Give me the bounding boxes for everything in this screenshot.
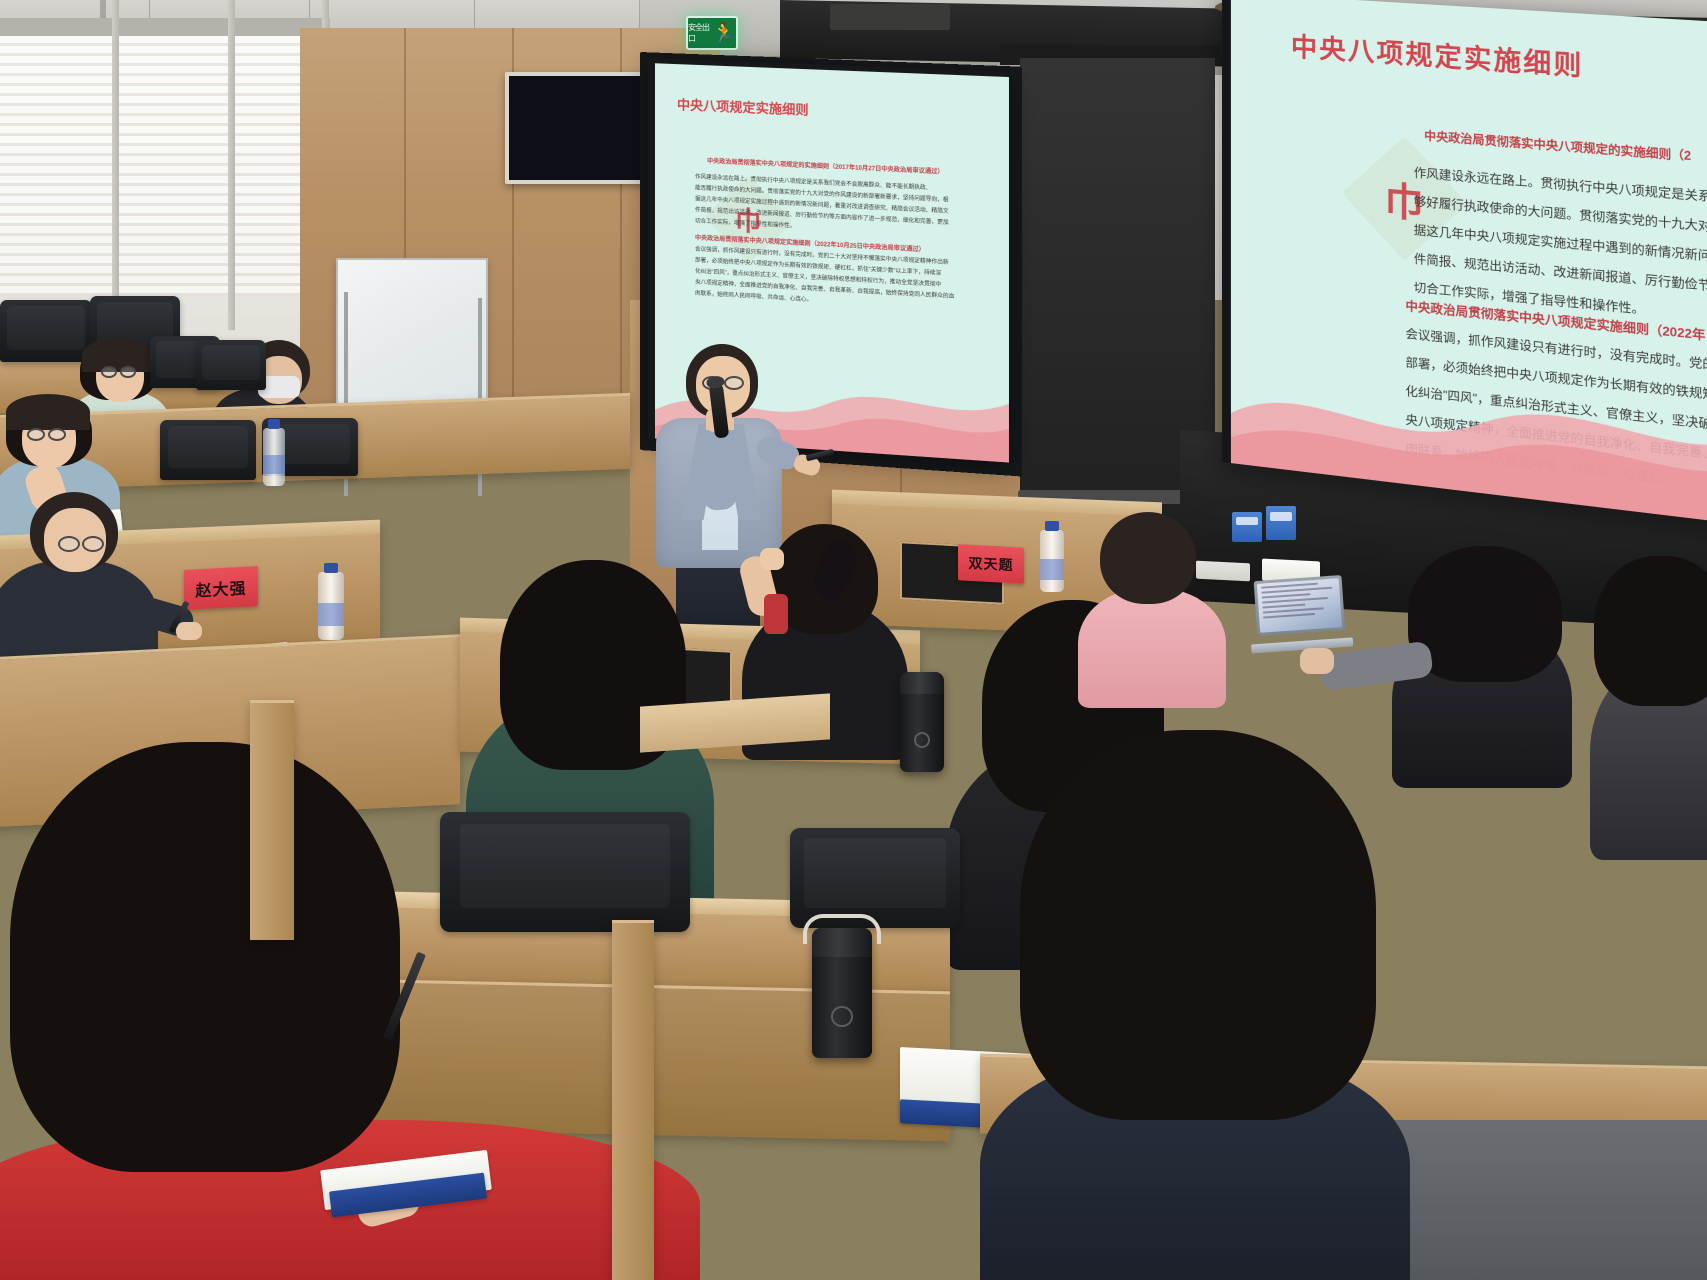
window-blind: [0, 36, 330, 296]
thermos: [812, 928, 872, 1058]
ceiling-mount-box: [830, 4, 950, 30]
thermos-lid: [900, 672, 944, 694]
glasses: [724, 376, 744, 390]
tissue-box: [1232, 512, 1262, 542]
chair[interactable]: [196, 340, 266, 390]
laptop-screen[interactable]: [1257, 578, 1342, 632]
slide-title-right: 中央八项规定实施细则: [1291, 26, 1584, 83]
glasses: [120, 366, 136, 378]
bottle-label: [318, 603, 344, 626]
hand: [1300, 648, 1334, 674]
water-bottle: [318, 572, 344, 640]
slide-body2-left: 会议强调，抓作风建设只有进行时，没有完成时。党的二十大对坚持不懈落实中央八项规定…: [695, 245, 1004, 318]
desk-partition: [250, 700, 294, 940]
hair: [1100, 512, 1196, 604]
exit-sign-label: 安全出口: [688, 22, 710, 44]
chair[interactable]: [790, 828, 960, 928]
chair[interactable]: [440, 812, 690, 932]
bottle-label: [263, 455, 285, 475]
hair-top: [6, 394, 90, 430]
laptop[interactable]: [1254, 575, 1347, 653]
glasses: [27, 428, 45, 441]
hand: [760, 548, 784, 570]
tissue-box: [1266, 506, 1296, 540]
running-person-icon: 🏃: [712, 24, 736, 43]
chair[interactable]: [160, 420, 256, 480]
thermos-logo: [914, 732, 930, 748]
red-object: [764, 594, 788, 634]
water-bottle: [1040, 530, 1064, 592]
placard-name: 赵大强: [195, 575, 246, 602]
hair: [10, 742, 400, 1172]
bottle-cap: [324, 563, 339, 573]
window-mullion: [112, 0, 119, 330]
bottle-label: [1040, 559, 1064, 580]
name-placard: 赵大强: [184, 566, 258, 610]
hair: [1020, 730, 1376, 1120]
notebook[interactable]: [1196, 561, 1250, 582]
slide-heading-right: 中央政治局贯彻落实中央八项规定的实施细则（2: [1424, 127, 1691, 164]
torso: [1078, 588, 1226, 708]
placard-name: 双天题: [969, 553, 1014, 575]
emergency-exit-sign: 安全出口 🏃: [686, 16, 738, 50]
bottle-cap: [1045, 521, 1058, 531]
bottle-cap: [268, 419, 280, 429]
thermos: [900, 672, 944, 772]
glasses: [58, 536, 80, 552]
name-placard: 双天题: [958, 544, 1024, 583]
lecture-hall-photo: 安全出口 🏃 巾 中央八项规定实施细则 中央政治局贯彻落实中央八项规定的实施细则…: [0, 0, 1707, 1280]
glasses: [48, 428, 66, 441]
projection-screen-right[interactable]: 巾 中央八项规定实施细则 中央政治局贯彻落实中央八项规定的实施细则（2 作风建设…: [1222, 0, 1707, 525]
hair-top: [82, 338, 154, 372]
thermos-logo: [831, 1006, 853, 1027]
hand: [176, 622, 202, 640]
chair[interactable]: [0, 300, 92, 362]
slide-heading-left: 中央政治局贯彻落实中央八项规定的实施细则（2017年10月27日中央政治局审议通…: [707, 156, 944, 176]
desk-partition: [612, 920, 654, 1280]
window-head: [0, 18, 330, 36]
glasses: [101, 366, 117, 378]
glasses: [82, 536, 104, 552]
window-mullion: [228, 0, 235, 330]
laptop-lid: [1254, 575, 1346, 636]
slide-title-left: 中央八项规定实施细则: [677, 94, 809, 119]
thermos-lid: [812, 928, 872, 957]
wall-monitor[interactable]: [505, 72, 655, 184]
water-bottle: [263, 428, 285, 486]
hair: [1594, 556, 1707, 706]
